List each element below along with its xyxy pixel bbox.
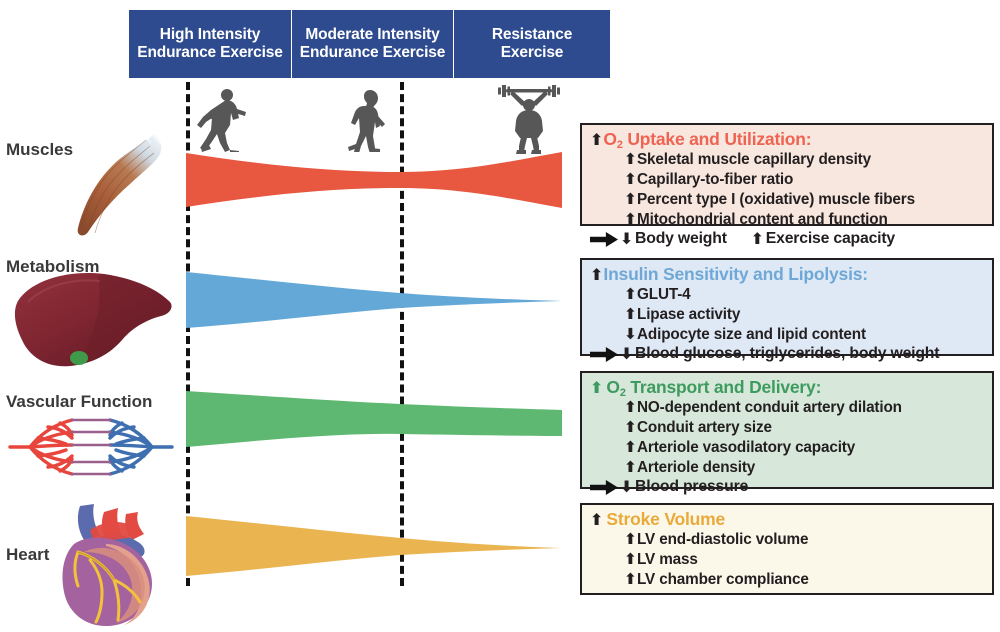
column-header-resistance: Resistance Exercise bbox=[454, 10, 610, 78]
panel-summary: ⬇Blood pressure bbox=[590, 478, 984, 497]
arrow-up-icon: ⬆ bbox=[624, 305, 637, 325]
arrow-up-icon: ⬆ bbox=[624, 530, 637, 550]
panel-title: ⬆ Stroke Volume bbox=[590, 510, 984, 529]
capillary-network-illustration bbox=[8, 408, 174, 486]
walker-silhouette-icon bbox=[344, 88, 390, 152]
arrow-up-icon: ⬆ bbox=[624, 458, 637, 478]
arrow-up-icon: ⬆ bbox=[751, 230, 764, 249]
arrow-right-icon bbox=[590, 480, 618, 495]
panel-bullet: ⬆Mitochondrial content and function bbox=[590, 210, 984, 230]
arrow-up-icon: ⬆ bbox=[624, 170, 637, 190]
column-header-high-intensity-endurance: High Intensity Endurance Exercise bbox=[129, 10, 291, 78]
arrow-down-icon: ⬇ bbox=[624, 325, 637, 345]
panel-summary: ⬇Body weight ⬆Exercise capacity bbox=[590, 230, 984, 249]
panel-title-text: O bbox=[603, 129, 616, 149]
arrow-up-icon: ⬆ bbox=[624, 210, 637, 230]
panel-o2-uptake: ⬆ O2 Uptake and Utilization: ⬆Skeletal m… bbox=[580, 123, 994, 226]
arrow-down-icon: ⬇ bbox=[620, 230, 633, 249]
arrow-up-icon: ⬆ bbox=[624, 190, 637, 210]
column-header-line2: Endurance Exercise bbox=[300, 44, 446, 62]
panel-bullet: ⬆Lipase activity bbox=[590, 305, 984, 325]
heart-illustration bbox=[44, 500, 172, 630]
weightlifter-silhouette-icon bbox=[498, 84, 560, 154]
panel-title-subscript: 2 bbox=[620, 387, 626, 399]
arrow-up-icon: ⬆ bbox=[590, 511, 603, 529]
arrow-up-icon: ⬆ bbox=[624, 570, 637, 590]
panel-bullet: ⬆LV chamber compliance bbox=[590, 570, 984, 590]
panel-bullet: ⬆LV end-diastolic volume bbox=[590, 530, 984, 550]
panel-title: ⬆ Insulin Sensitivity and Lipolysis: bbox=[590, 265, 984, 284]
arrow-down-icon: ⬇ bbox=[620, 478, 633, 497]
panel-title-rest: Uptake and Utilization: bbox=[623, 129, 812, 149]
panel-title-text: Stroke Volume bbox=[606, 509, 725, 529]
panel-title-text: Insulin Sensitivity and Lipolysis: bbox=[603, 264, 868, 284]
liver-illustration bbox=[6, 262, 176, 382]
arrow-right-icon bbox=[590, 347, 618, 362]
panel-bullet: ⬆Capillary-to-fiber ratio bbox=[590, 170, 984, 190]
panel-stroke-volume: ⬆ Stroke Volume ⬆LV end-diastolic volume… bbox=[580, 503, 994, 595]
column-header-line1: Resistance bbox=[492, 26, 572, 44]
arrow-right-icon bbox=[590, 232, 618, 247]
figure-canvas: High Intensity Endurance Exercise Modera… bbox=[0, 0, 1000, 632]
arrow-up-icon: ⬆ bbox=[624, 550, 637, 570]
panel-bullet: ⬆Percent type I (oxidative) muscle fiber… bbox=[590, 190, 984, 210]
panel-bullet: ⬆Arteriole vasodilatory capacity bbox=[590, 438, 984, 458]
band-vascular-function bbox=[186, 388, 562, 450]
arrow-up-icon: ⬆ bbox=[624, 438, 637, 458]
arrow-up-icon: ⬆ bbox=[590, 266, 603, 284]
arrow-up-icon: ⬆ bbox=[590, 131, 603, 149]
arrow-up-icon: ⬆ bbox=[624, 398, 637, 418]
arrow-down-icon: ⬇ bbox=[620, 345, 633, 364]
panel-summary: ⬇Blood glucose, triglycerides, body weig… bbox=[590, 345, 984, 364]
panel-bullet: ⬆Skeletal muscle capillary density bbox=[590, 150, 984, 170]
panel-title-text: O bbox=[606, 377, 619, 397]
band-metabolism bbox=[186, 270, 562, 330]
arrow-up-icon: ⬆ bbox=[590, 379, 603, 397]
panel-title: ⬆ O2 Uptake and Utilization: bbox=[590, 130, 984, 149]
arrow-up-icon: ⬆ bbox=[624, 285, 637, 305]
panel-title-subscript: 2 bbox=[617, 139, 623, 151]
panel-bullet: ⬆Arteriole density bbox=[590, 458, 984, 478]
panel-insulin-sensitivity: ⬆ Insulin Sensitivity and Lipolysis: ⬆GL… bbox=[580, 258, 994, 356]
row-label-heart: Heart bbox=[6, 545, 49, 565]
arrow-up-icon: ⬆ bbox=[624, 150, 637, 170]
band-heart bbox=[186, 512, 562, 580]
skeletal-muscle-illustration bbox=[46, 128, 166, 238]
runner-silhouette-icon bbox=[196, 88, 250, 152]
panel-bullet: ⬇Adipocyte size and lipid content bbox=[590, 325, 984, 345]
column-header-line1: High Intensity bbox=[137, 26, 283, 44]
column-header-line2: Endurance Exercise bbox=[137, 44, 283, 62]
panel-o2-transport: ⬆ O2 Transport and Delivery: ⬆NO-depende… bbox=[580, 371, 994, 489]
column-header-line2: Exercise bbox=[492, 44, 572, 62]
panel-bullet: ⬆LV mass bbox=[590, 550, 984, 570]
panel-title-rest: Transport and Delivery: bbox=[626, 377, 822, 397]
panel-bullet: ⬆Conduit artery size bbox=[590, 418, 984, 438]
column-header-line1: Moderate Intensity bbox=[300, 26, 446, 44]
arrow-up-icon: ⬆ bbox=[624, 418, 637, 438]
column-header-moderate-intensity-endurance: Moderate Intensity Endurance Exercise bbox=[292, 10, 453, 78]
panel-bullet: ⬆GLUT-4 bbox=[590, 285, 984, 305]
panel-bullet: ⬆NO-dependent conduit artery dilation bbox=[590, 398, 984, 418]
panel-title: ⬆ O2 Transport and Delivery: bbox=[590, 378, 984, 397]
band-muscles bbox=[186, 150, 562, 210]
